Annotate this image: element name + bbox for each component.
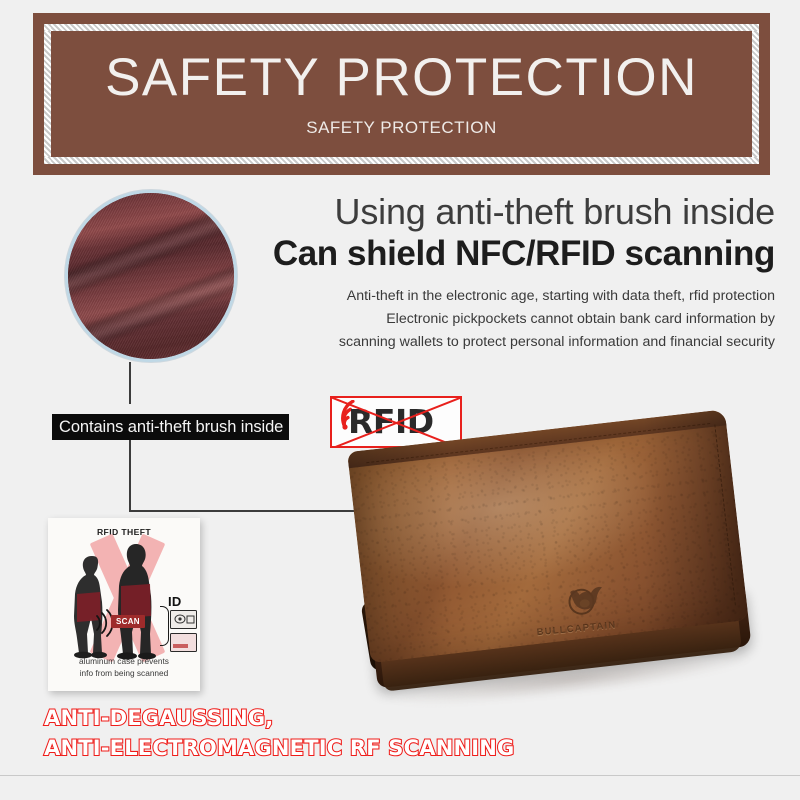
card-magnetic-strip bbox=[173, 644, 188, 648]
id-brace bbox=[160, 606, 169, 646]
id-photo-icon bbox=[171, 611, 196, 628]
body-copy-line-3: scanning wallets to protect personal inf… bbox=[255, 331, 775, 354]
scan-badge: SCAN bbox=[111, 615, 145, 628]
theft-card-caption-line-1: aluminum case prevents bbox=[48, 655, 200, 667]
connector-line-vertical-lower bbox=[129, 438, 131, 512]
banner-content: SAFETY PROTECTION SAFETY PROTECTION bbox=[51, 31, 752, 157]
id-label: ID bbox=[168, 594, 182, 609]
body-copy: Anti-theft in the electronic age, starti… bbox=[255, 285, 775, 354]
rfid-theft-card: RFID THEFT SCAN ID bbox=[48, 518, 200, 691]
theft-card-caption-line-2: info from being scanned bbox=[48, 667, 200, 679]
infographic-page: SAFETY PROTECTION SAFETY PROTECTION Usin… bbox=[0, 0, 800, 800]
woman-silhouette-icon bbox=[70, 554, 110, 659]
headline-line-2: Can shield NFC/RFID scanning bbox=[255, 234, 775, 274]
anti-theft-brush-label: Contains anti-theft brush inside bbox=[52, 414, 289, 440]
body-copy-line-1: Anti-theft in the electronic age, starti… bbox=[255, 285, 775, 308]
id-card-icon bbox=[170, 610, 197, 629]
footer-line-2: ANTI-ELECTROMAGNETIC RF SCANNING bbox=[44, 736, 514, 760]
theft-card-caption: aluminum case prevents info from being s… bbox=[48, 655, 200, 679]
bank-card-icon bbox=[170, 633, 197, 652]
banner-subtitle: SAFETY PROTECTION bbox=[306, 118, 497, 138]
wallet-shading bbox=[347, 409, 749, 663]
bull-head-logo-icon bbox=[559, 574, 610, 625]
header-banner: SAFETY PROTECTION SAFETY PROTECTION bbox=[33, 13, 770, 175]
body-copy-line-2: Electronic pickpockets cannot obtain ban… bbox=[255, 308, 775, 331]
man-silhouette-icon bbox=[116, 542, 160, 660]
theft-card-title: RFID THEFT bbox=[48, 527, 200, 537]
wallet-product-image: BULLCAPTAIN bbox=[352, 418, 772, 728]
wallet: BULLCAPTAIN bbox=[347, 409, 753, 700]
bottom-divider bbox=[0, 775, 800, 776]
headline-block: Using anti-theft brush inside Can shield… bbox=[255, 192, 775, 354]
headline-line-1: Using anti-theft brush inside bbox=[255, 192, 775, 232]
footer-line-1: ANTI-DEGAUSSING, bbox=[44, 706, 273, 730]
banner-hatch-border: SAFETY PROTECTION SAFETY PROTECTION bbox=[44, 24, 759, 164]
connector-line-vertical-upper bbox=[129, 362, 131, 404]
fabric-swatch-circle bbox=[65, 190, 237, 362]
wallet-front-panel: BULLCAPTAIN bbox=[347, 409, 749, 663]
banner-title: SAFETY PROTECTION bbox=[105, 51, 698, 104]
